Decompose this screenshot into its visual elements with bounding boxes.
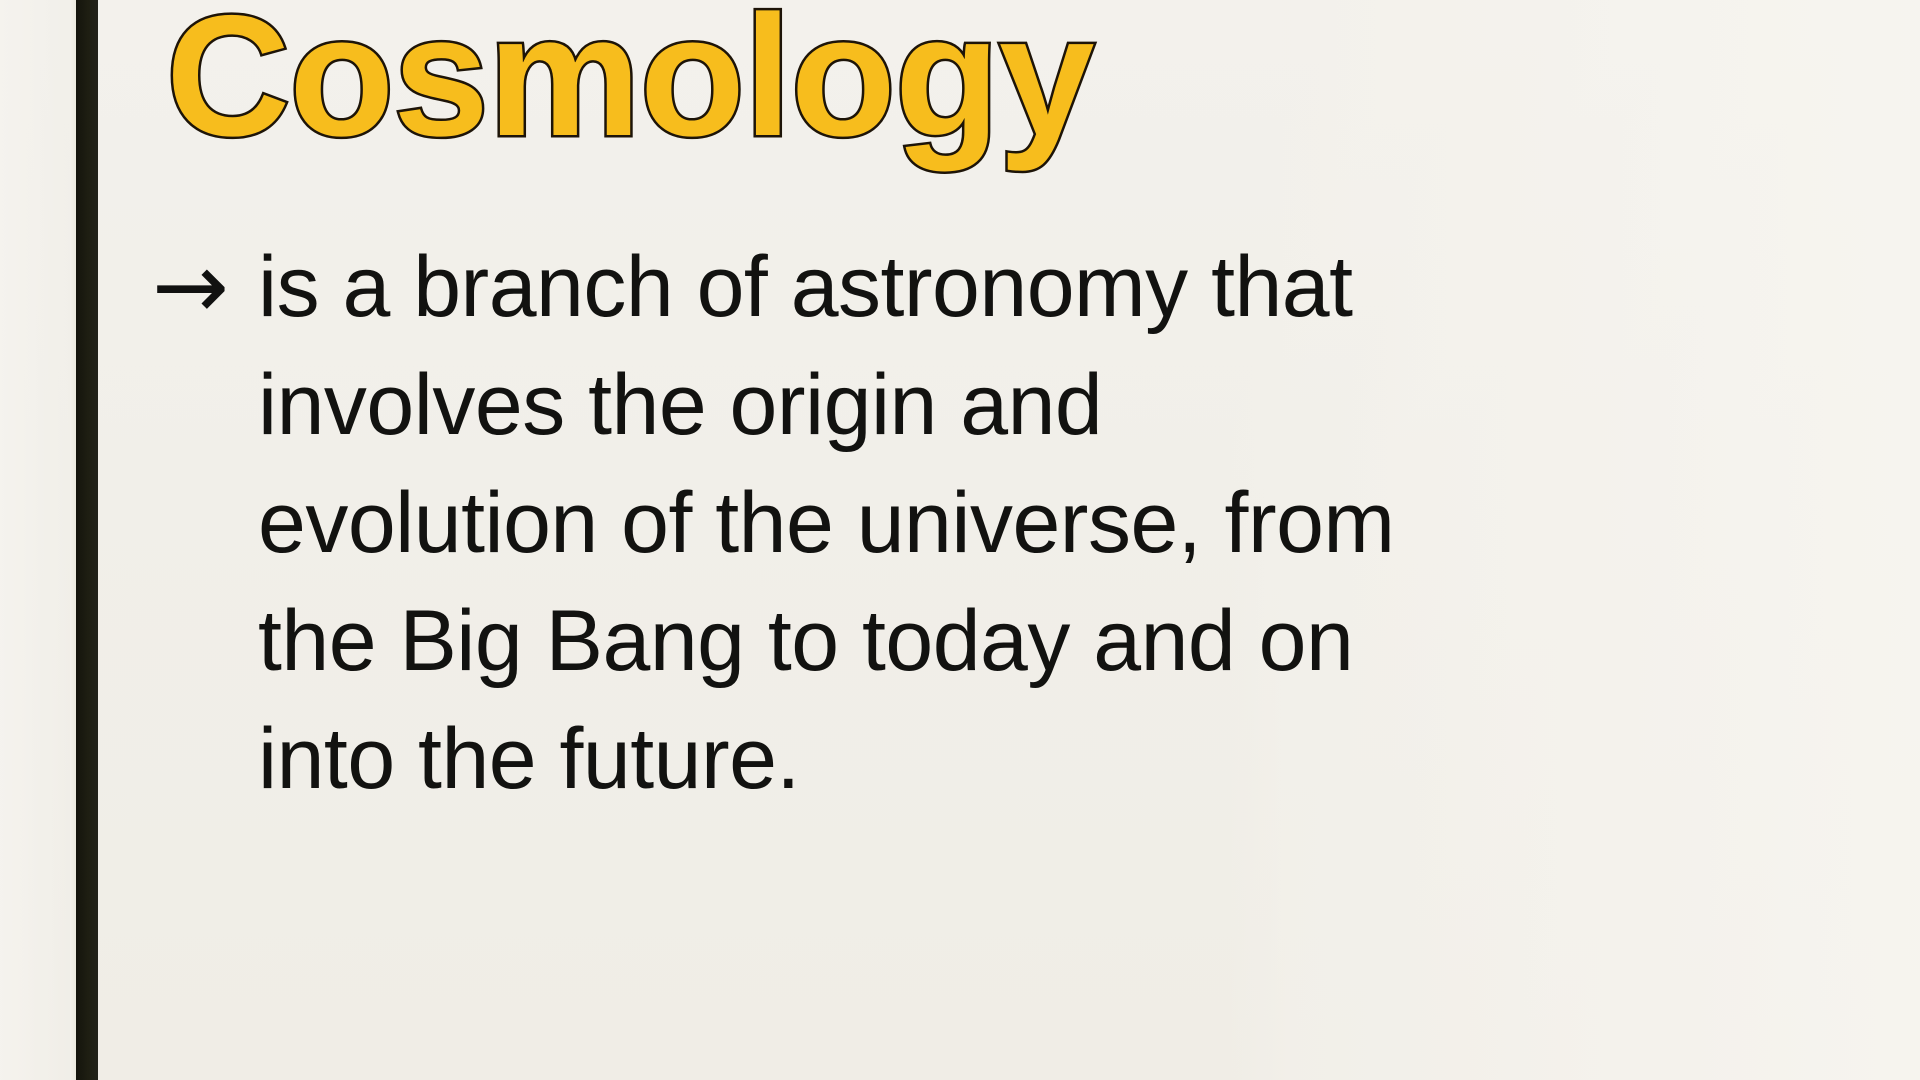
right-arrow-icon: → <box>140 228 258 346</box>
bullet-item: → is a branch of astronomy that involves… <box>140 228 1560 818</box>
bullet-body-text: is a branch of astronomy that involves t… <box>258 228 1560 818</box>
slide-content: Cosmology → is a branch of astronomy tha… <box>130 0 1920 1080</box>
left-accent-bar <box>76 0 98 1080</box>
presentation-slide: Cosmology → is a branch of astronomy tha… <box>0 0 1920 1080</box>
slide-title: Cosmology <box>166 0 1094 167</box>
